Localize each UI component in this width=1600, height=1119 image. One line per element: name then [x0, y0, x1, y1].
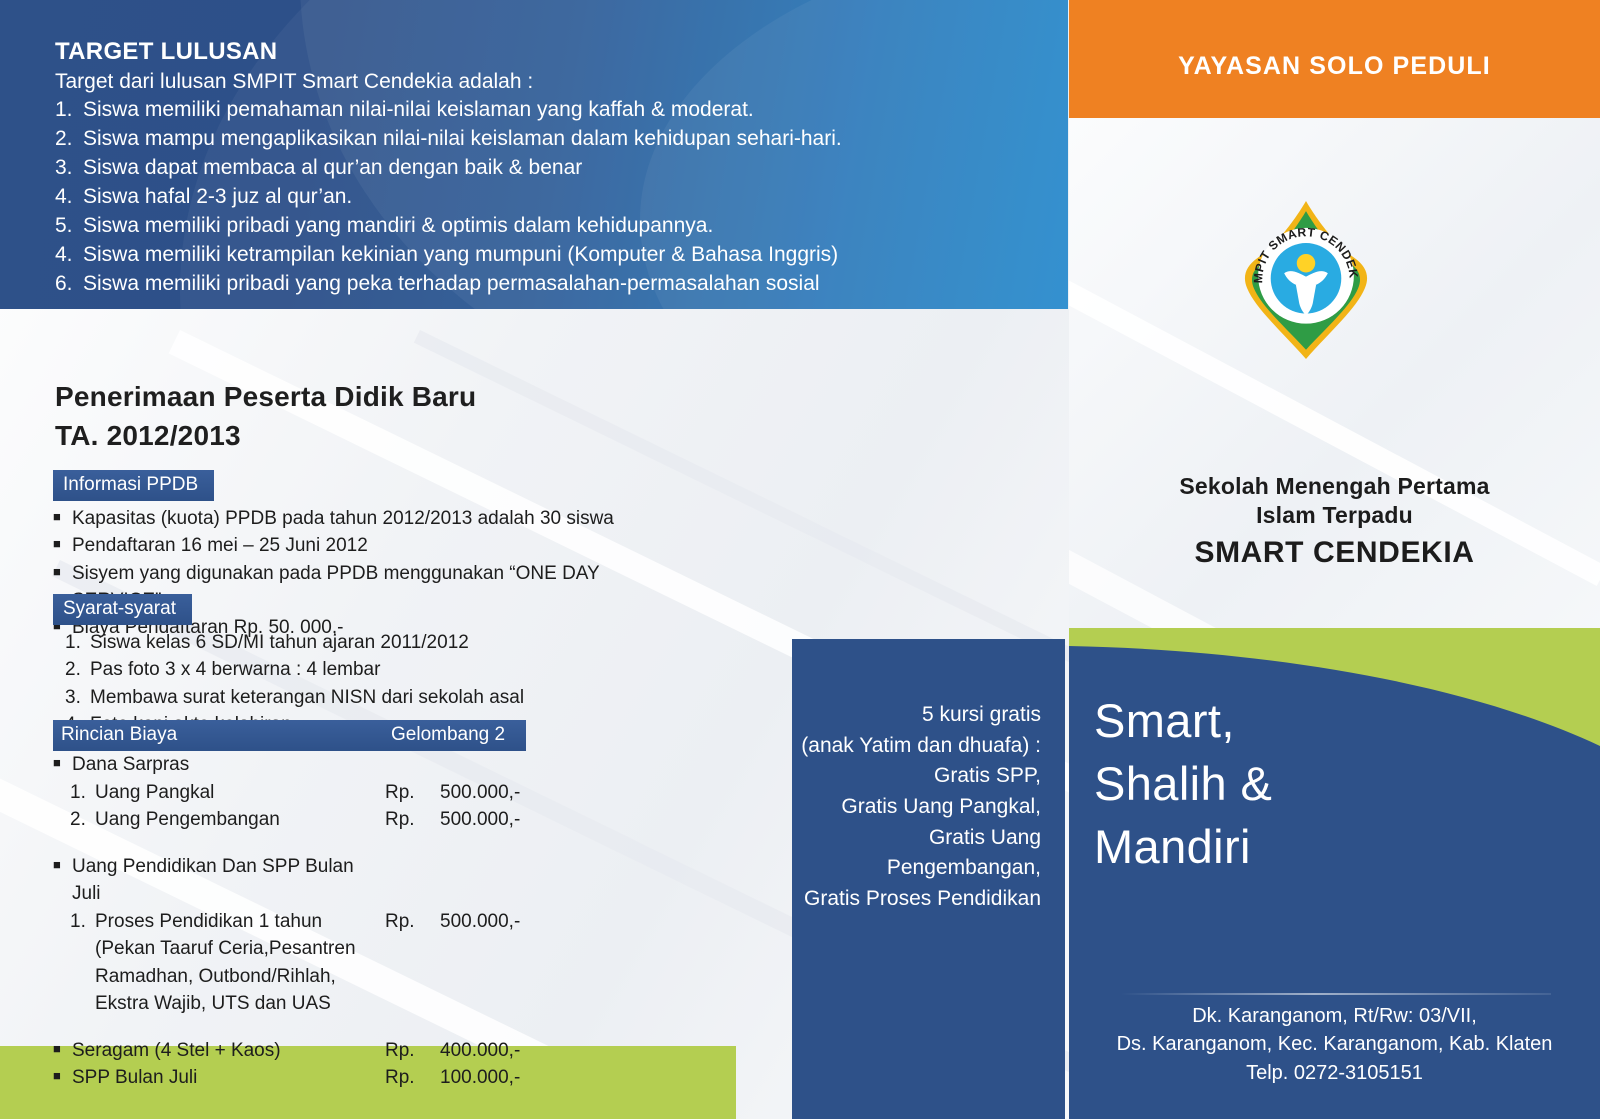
list-number: 1. [70, 908, 95, 936]
biaya-amount: 100.000,- [440, 1064, 526, 1092]
biaya-currency [427, 935, 482, 963]
list-text: Siswa memiliki pribadi yang mandiri & op… [83, 212, 1015, 241]
biaya-label-cell: ■Dana Sarpras [53, 751, 385, 779]
header-subtitle: Target dari lulusan SMPIT Smart Cendekia… [55, 70, 1015, 94]
biaya-currency: Rp. [385, 779, 440, 807]
biaya-label-cell: Ramadhan, Outbond/Rihlah, [53, 963, 427, 991]
syarat-section: Syarat-syarat 1.Siswa kelas 6 SD/MI tahu… [53, 594, 693, 738]
ppdb-title: Penerimaan Peserta Didik Baru TA. 2012/2… [55, 378, 755, 455]
list-number: 6. [55, 270, 83, 299]
list-text: Siswa hafal 2-3 juz al qur’an. [83, 183, 1015, 212]
list-text: Kapasitas (kuota) PPDB pada tahun 2012/2… [72, 505, 693, 532]
tagline-line1: Smart, [1094, 690, 1524, 753]
biaya-currency: Rp. [385, 1037, 440, 1065]
biaya-label-cell: Ekstra Wajib, UTS dan UAS [53, 990, 427, 1018]
ppdb-title-line2: TA. 2012/2013 [55, 417, 755, 456]
list-number: 4. [55, 183, 83, 212]
biaya-currency [427, 963, 482, 991]
page-title: TARGET LULUSAN [55, 38, 1015, 66]
biaya-label: Ekstra Wajib, UTS dan UAS [95, 990, 331, 1018]
info-ppdb-item: ■Pendaftaran 16 mei – 25 Juni 2012 [53, 532, 693, 559]
biaya-col1-header: Rincian Biaya [53, 724, 391, 746]
biaya-label-cell: (Pekan Taaruf Ceria,Pesantren [53, 935, 427, 963]
biaya-row-spacer [53, 834, 526, 853]
biaya-label: Proses Pendidikan 1 tahun [95, 908, 322, 936]
biaya-label-cell: ■Seragam (4 Stel + Kaos) [53, 1037, 385, 1065]
target-lulusan-item: 3.Siswa dapat membaca al qur’an dengan b… [55, 154, 1015, 183]
square-bullet-icon: ■ [53, 853, 72, 908]
biaya-label: Uang Pengembangan [95, 806, 280, 834]
scholarship-line: 5 kursi gratis [792, 700, 1041, 731]
school-name-line3: SMART CENDEKIA [1069, 536, 1600, 570]
school-logo: SMPIT SMART CENDEKIA [1222, 196, 1390, 364]
biaya-label-cell: 1.Proses Pendidikan 1 tahun [53, 908, 385, 936]
square-bullet-icon: ■ [53, 1037, 72, 1065]
target-lulusan-item: 1.Siswa memiliki pemahaman nilai-nilai k… [55, 96, 1015, 125]
list-number: 2. [65, 656, 90, 683]
biaya-amount: 400.000,- [440, 1037, 526, 1065]
biaya-label-cell: ■Uang Pendidikan Dan SPP Bulan Juli [53, 853, 385, 908]
biaya-amount: 500.000,- [440, 806, 526, 834]
school-name-line1: Sekolah Menengah Pertama [1069, 472, 1600, 501]
biaya-amount [440, 751, 526, 779]
square-bullet-icon: ■ [53, 505, 72, 532]
target-lulusan-item: 6.Siswa memiliki pribadi yang peka terha… [55, 270, 1015, 299]
tagline-block: Smart, Shalih & Mandiri [1094, 690, 1524, 879]
biaya-table-body: ■Dana Sarpras1.Uang PangkalRp.500.000,-2… [53, 751, 526, 1092]
biaya-amount: 500.000,- [440, 779, 526, 807]
target-lulusan-item: 5.Siswa memiliki pribadi yang mandiri & … [55, 212, 1015, 241]
list-text: Siswa mampu mengaplikasikan nilai-nilai … [83, 125, 1015, 154]
square-bullet-icon: ■ [53, 751, 72, 779]
tagline-line3: Mandiri [1094, 816, 1524, 879]
list-number: 1. [55, 96, 83, 125]
list-number: 2. [55, 125, 83, 154]
biaya-row: Ramadhan, Outbond/Rihlah, [53, 963, 526, 991]
scholarship-line: Gratis SPP, [792, 761, 1041, 792]
list-number: 1. [70, 779, 95, 807]
biaya-row: ■Seragam (4 Stel + Kaos)Rp.400.000,- [53, 1037, 526, 1065]
foundation-name: YAYASAN SOLO PEDULI [1069, 52, 1600, 81]
biaya-label: (Pekan Taaruf Ceria,Pesantren [95, 935, 356, 963]
biaya-amount [482, 935, 526, 963]
scholarship-line: Gratis Proses Pendidikan [792, 884, 1041, 915]
biaya-col2-header: Gelombang 2 [391, 724, 526, 746]
scholarship-line: Gratis Uang Pengembangan, [792, 823, 1041, 884]
biaya-label: Uang Pendidikan Dan SPP Bulan Juli [72, 853, 385, 908]
list-number: 3. [65, 684, 90, 711]
biaya-table-header: Rincian Biaya Gelombang 2 [53, 720, 526, 751]
biaya-label: SPP Bulan Juli [72, 1064, 197, 1092]
biaya-row-spacer [53, 1018, 526, 1037]
biaya-currency: Rp. [385, 1064, 440, 1092]
biaya-label: Dana Sarpras [72, 751, 189, 779]
list-text: Siswa memiliki pemahaman nilai-nilai kei… [83, 96, 1015, 125]
list-text: Siswa dapat membaca al qur’an dengan bai… [83, 154, 1015, 183]
scholarship-text: 5 kursi gratis(anak Yatim dan dhuafa) :G… [792, 700, 1041, 915]
biaya-amount [482, 990, 526, 1018]
target-lulusan-header: TARGET LULUSAN Target dari lulusan SMPIT… [0, 0, 1068, 309]
address-line2: Ds. Karanganom, Kec. Karanganom, Kab. Kl… [1069, 1030, 1600, 1058]
list-number: 4. [55, 241, 83, 270]
address-block: Dk. Karanganom, Rt/Rw: 03/VII, Ds. Karan… [1069, 1002, 1600, 1087]
list-number: 2. [70, 806, 95, 834]
biaya-label-cell: 1.Uang Pangkal [53, 779, 385, 807]
biaya-amount [440, 853, 526, 908]
scholarship-line: (anak Yatim dan dhuafa) : [792, 731, 1041, 762]
brochure-page: TARGET LULUSAN Target dari lulusan SMPIT… [0, 0, 1600, 1119]
biaya-label-cell: ■SPP Bulan Juli [53, 1064, 385, 1092]
list-text: Siswa memiliki pribadi yang peka terhada… [83, 270, 1015, 299]
target-lulusan-item: 4.Siswa memiliki ketrampilan kekinian ya… [55, 241, 1015, 270]
biaya-row: (Pekan Taaruf Ceria,Pesantren [53, 935, 526, 963]
list-text: Pas foto 3 x 4 berwarna : 4 lembar [90, 656, 693, 683]
list-text: Siswa kelas 6 SD/MI tahun ajaran 2011/20… [90, 629, 693, 656]
list-number: 1. [65, 629, 90, 656]
row-indent [53, 908, 70, 936]
square-bullet-icon: ■ [53, 532, 72, 559]
list-text: Membawa surat keterangan NISN dari sekol… [90, 684, 693, 711]
foundation-banner: YAYASAN SOLO PEDULI [1069, 0, 1600, 118]
list-text: Siswa memiliki ketrampilan kekinian yang… [83, 241, 1015, 270]
list-number: 3. [55, 154, 83, 183]
address-phone: Telp. 0272-3105151 [1069, 1059, 1600, 1087]
scholarship-line: Gratis Uang Pangkal, [792, 792, 1041, 823]
target-lulusan-list: 1.Siswa memiliki pemahaman nilai-nilai k… [55, 96, 1015, 299]
tagline-line2: Shalih & [1094, 753, 1524, 816]
biaya-currency [385, 751, 440, 779]
biaya-currency [427, 990, 482, 1018]
biaya-row: ■Dana Sarpras [53, 751, 526, 779]
syarat-badge: Syarat-syarat [53, 594, 192, 625]
syarat-item: 3.Membawa surat keterangan NISN dari sek… [53, 684, 693, 711]
biaya-row: Ekstra Wajib, UTS dan UAS [53, 990, 526, 1018]
info-ppdb-item: ■Kapasitas (kuota) PPDB pada tahun 2012/… [53, 505, 693, 532]
biaya-table: Rincian Biaya Gelombang 2 ■Dana Sarpras1… [53, 720, 526, 1092]
biaya-row: ■Uang Pendidikan Dan SPP Bulan Juli [53, 853, 526, 908]
list-number: 5. [55, 212, 83, 241]
address-divider [1121, 993, 1551, 995]
biaya-label-cell: 2.Uang Pengembangan [53, 806, 385, 834]
square-bullet-icon: ■ [53, 1064, 72, 1092]
biaya-currency [385, 853, 440, 908]
biaya-amount: 500.000,- [440, 908, 526, 936]
biaya-row: ■SPP Bulan JuliRp.100.000,- [53, 1064, 526, 1092]
row-indent [53, 806, 70, 834]
biaya-row: 2.Uang PengembanganRp.500.000,- [53, 806, 526, 834]
biaya-row: 1.Uang PangkalRp.500.000,- [53, 779, 526, 807]
syarat-item: 1.Siswa kelas 6 SD/MI tahun ajaran 2011/… [53, 629, 693, 656]
ppdb-title-line1: Penerimaan Peserta Didik Baru [55, 378, 755, 417]
school-name-line2: Islam Terpadu [1069, 501, 1600, 530]
info-ppdb-badge: Informasi PPDB [53, 470, 214, 501]
biaya-label: Ramadhan, Outbond/Rihlah, [95, 963, 336, 991]
biaya-label: Uang Pangkal [95, 779, 214, 807]
list-text: Pendaftaran 16 mei – 25 Juni 2012 [72, 532, 693, 559]
syarat-item: 2.Pas foto 3 x 4 berwarna : 4 lembar [53, 656, 693, 683]
target-lulusan-item: 2.Siswa mampu mengaplikasikan nilai-nila… [55, 125, 1015, 154]
biaya-currency: Rp. [385, 806, 440, 834]
school-name-block: Sekolah Menengah Pertama Islam Terpadu S… [1069, 472, 1600, 570]
biaya-currency: Rp. [385, 908, 440, 936]
row-indent [53, 779, 70, 807]
address-line1: Dk. Karanganom, Rt/Rw: 03/VII, [1069, 1002, 1600, 1030]
biaya-row: 1.Proses Pendidikan 1 tahunRp.500.000,- [53, 908, 526, 936]
biaya-label: Seragam (4 Stel + Kaos) [72, 1037, 281, 1065]
biaya-amount [482, 963, 526, 991]
target-lulusan-item: 4.Siswa hafal 2-3 juz al qur’an. [55, 183, 1015, 212]
